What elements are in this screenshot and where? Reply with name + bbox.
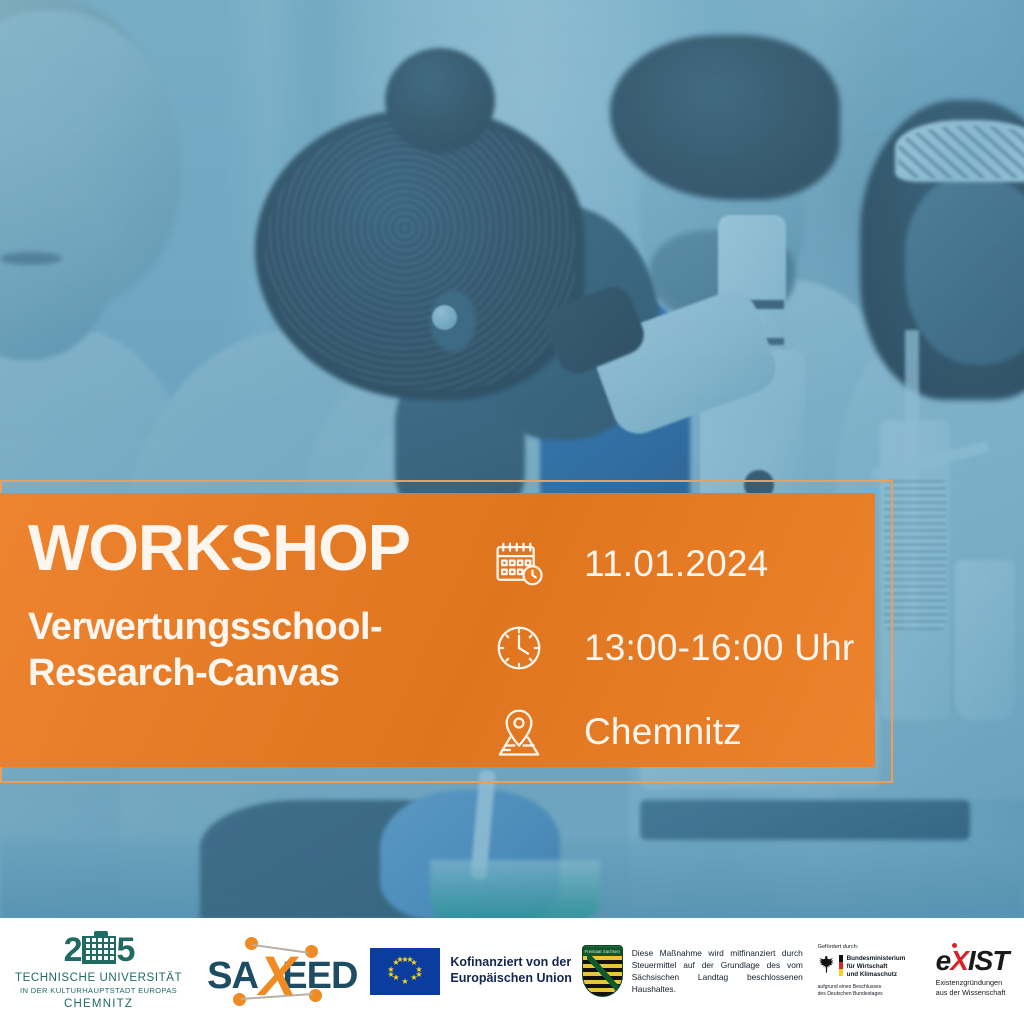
tu-chemnitz-line-1: TECHNISCHE UNIVERSITÄT: [15, 972, 182, 984]
exist-wordmark: eXIST: [936, 945, 1009, 977]
eu-flag-icon: ★ ★ ★ ★ ★ ★ ★ ★ ★ ★ ★ ★: [370, 948, 440, 995]
page-subtitle-line-2: Research-Canvas: [28, 650, 490, 696]
bmwk-name-line-1: Bundesministerium: [847, 955, 906, 963]
event-time: 13:00-16:00 Uhr: [584, 627, 854, 669]
tu-chemnitz-line-2: IN DER KULTURHAUPTSTADT EUROPAS: [15, 986, 182, 995]
tu-mark-digit-2: 2: [64, 933, 81, 967]
german-flag-bar-icon: [839, 955, 843, 976]
bmwk-head: Gefördert durch:: [818, 944, 906, 951]
page-subtitle-line-1: Verwertungsschool-: [28, 604, 490, 650]
exist-x-letter: X: [950, 945, 968, 976]
bmwk-footnote-line-1: aufgrund eines Beschlusses: [818, 984, 906, 991]
bmwk-name-line-2: für Wirtschaft: [847, 963, 906, 971]
exist-word-post: IST: [968, 945, 1009, 976]
saxeed-x-letter: X: [259, 943, 296, 1008]
banner-text-block: WORKSHOP Verwertungsschool- Research-Can…: [0, 493, 490, 697]
logo-freistaat-sachsen: Freistaat Sachsen Diese Maßnahme wird mi…: [582, 945, 803, 997]
logo-tu-chemnitz: 2 5 TECHNISCHE UNIVERSITÄT IN DER KULTUR…: [0, 933, 197, 1010]
logo-bmwk: Gefördert durch: Bundesministerium für W…: [803, 944, 920, 997]
exist-word-pre: e: [936, 945, 951, 976]
exist-subtitle: Existenzgründungen aus der Wissenschaft: [936, 978, 1009, 997]
tu-mark-digit-5: 5: [117, 933, 134, 967]
exist-subtitle-line-2: aus der Wissenschaft: [936, 988, 1009, 998]
eu-funding-text: Kofinanziert von der Europäischen Union: [450, 955, 572, 986]
sachsen-coat-of-arms-icon: Freistaat Sachsen: [582, 945, 623, 997]
calendar-clock-icon: [490, 535, 548, 593]
page-subtitle: Verwertungsschool- Research-Canvas: [28, 604, 490, 697]
event-date-row: 11.01.2024: [490, 535, 854, 593]
exist-subtitle-line-1: Existenzgründungen: [936, 978, 1009, 988]
federal-eagle-icon: [818, 955, 835, 974]
poster-root: WORKSHOP Verwertungsschool- Research-Can…: [0, 0, 1024, 1024]
logo-exist: eXIST Existenzgründungen aus der Wissens…: [920, 945, 1024, 997]
tu-mark-building-icon: [82, 936, 116, 964]
logo-saxeed: SAXEED X: [197, 935, 360, 1007]
eu-funding-line-1: Kofinanziert von der: [450, 955, 572, 971]
event-date: 11.01.2024: [584, 543, 768, 585]
sachsen-funding-text: Diese Maßnahme wird mitfinanziert durch …: [632, 947, 803, 996]
event-details-list: 11.01.2024 13:00-16:00 Uhr: [490, 493, 854, 761]
footer-logo-bar: 2 5 TECHNISCHE UNIVERSITÄT IN DER KULTUR…: [0, 918, 1024, 1024]
logo-european-union: ★ ★ ★ ★ ★ ★ ★ ★ ★ ★ ★ ★ Kofinanziert von…: [361, 948, 582, 995]
bmwk-footnote-line-2: des Deutschen Bundestages: [818, 991, 906, 998]
bmwk-footnote: aufgrund eines Beschlusses des Deutschen…: [818, 984, 906, 997]
event-location: Chemnitz: [584, 711, 742, 753]
page-title: WORKSHOP: [28, 515, 490, 580]
tu-chemnitz-mark: 2 5: [15, 933, 182, 967]
event-time-row: 13:00-16:00 Uhr: [490, 619, 854, 677]
map-pin-icon: [490, 703, 548, 761]
bmwk-name-line-3: und Klimaschutz: [847, 971, 906, 979]
bmwk-ministry-name: Bundesministerium für Wirtschaft und Kli…: [847, 955, 906, 980]
exist-dot-icon: [952, 943, 957, 948]
banner: WORKSHOP Verwertungsschool- Research-Can…: [0, 493, 875, 767]
eu-funding-line-2: Europäischen Union: [450, 971, 572, 987]
clock-icon: [490, 619, 548, 677]
saxeed-word-part-1: SA: [207, 955, 258, 997]
tu-chemnitz-line-3: CHEMNITZ: [15, 998, 182, 1010]
sachsen-shield-title: Freistaat Sachsen: [583, 947, 622, 956]
event-location-row: Chemnitz: [490, 703, 854, 761]
